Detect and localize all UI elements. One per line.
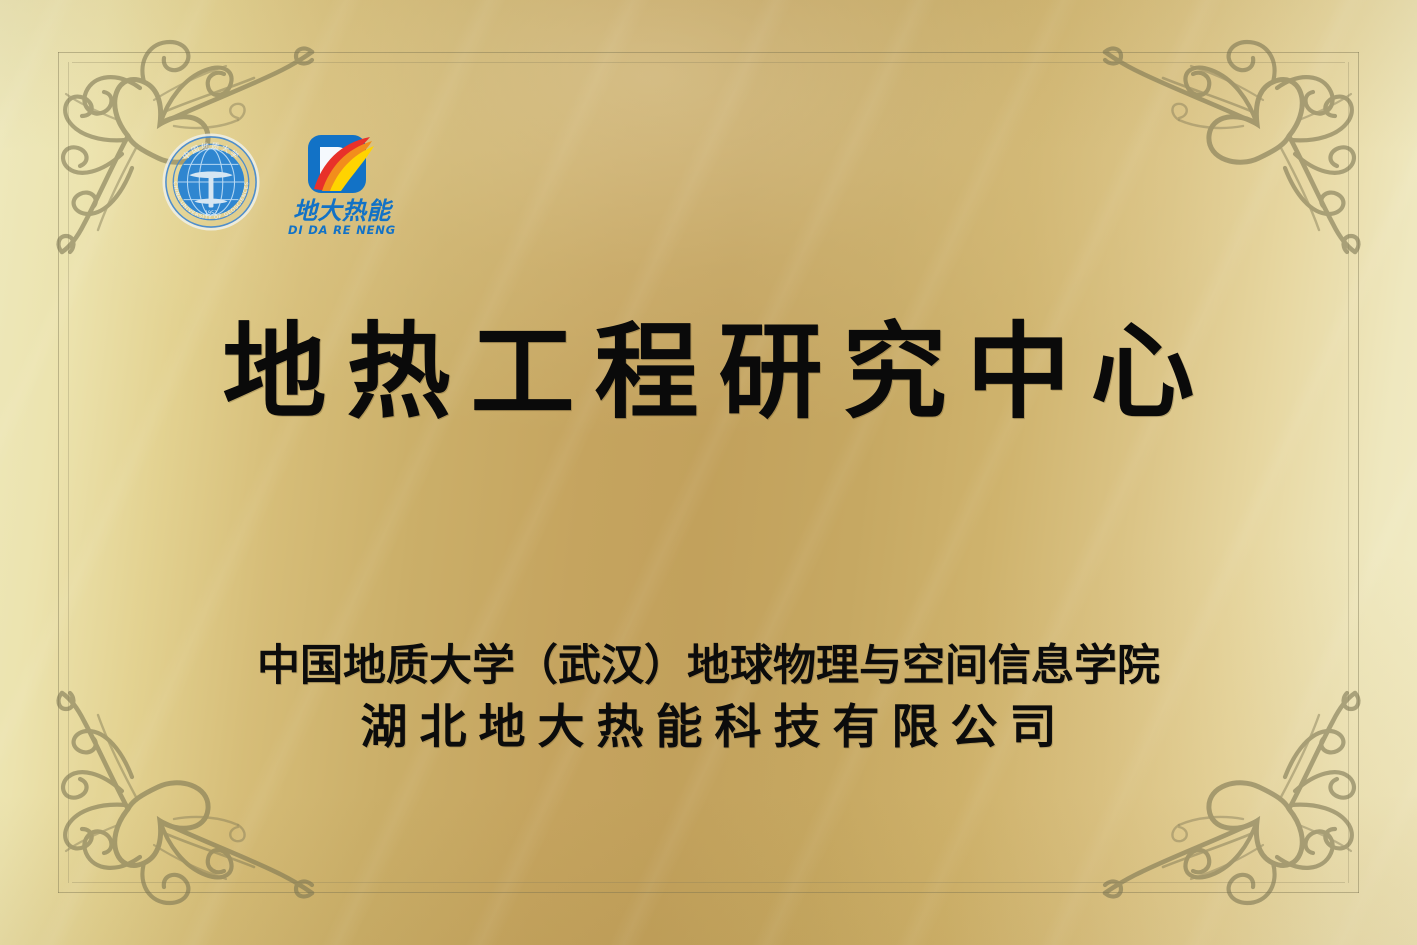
corner-ornament-top-right-icon bbox=[1087, 8, 1407, 258]
frame-line-bottom-inner bbox=[72, 882, 1345, 883]
frame-line-right-outer bbox=[1358, 52, 1359, 893]
logo-group: 中国地质大学 CHINA UNIVERSITY OF GEOSCIENCES 1… bbox=[162, 133, 406, 241]
frame-line-left-outer bbox=[58, 52, 59, 893]
page-title: 地热工程研究中心 bbox=[0, 320, 1417, 424]
didareneng-chinese-wordmark: 地大热能 bbox=[293, 197, 393, 225]
china-university-of-geosciences-seal-icon: 中国地质大学 CHINA UNIVERSITY OF GEOSCIENCES 1… bbox=[162, 133, 260, 231]
institution-name-line-2: 湖北地大热能科技有限公司 bbox=[0, 695, 1417, 761]
institution-names: 中国地质大学（武汉）地球物理与空间信息学院 湖北地大热能科技有限公司 bbox=[0, 637, 1417, 761]
frame-line-top-inner bbox=[72, 62, 1345, 63]
didareneng-logo-icon: 地大热能 DI DA RE NENG bbox=[278, 133, 406, 241]
didareneng-pinyin-wordmark: DI DA RE NENG bbox=[288, 223, 396, 237]
seal-year-text: 1952 bbox=[205, 210, 217, 216]
award-plaque: 中国地质大学 CHINA UNIVERSITY OF GEOSCIENCES 1… bbox=[0, 0, 1417, 945]
frame-line-top-outer bbox=[58, 52, 1359, 53]
institution-name-line-1: 中国地质大学（武汉）地球物理与空间信息学院 bbox=[0, 637, 1417, 695]
frame-line-bottom-outer bbox=[58, 892, 1359, 893]
